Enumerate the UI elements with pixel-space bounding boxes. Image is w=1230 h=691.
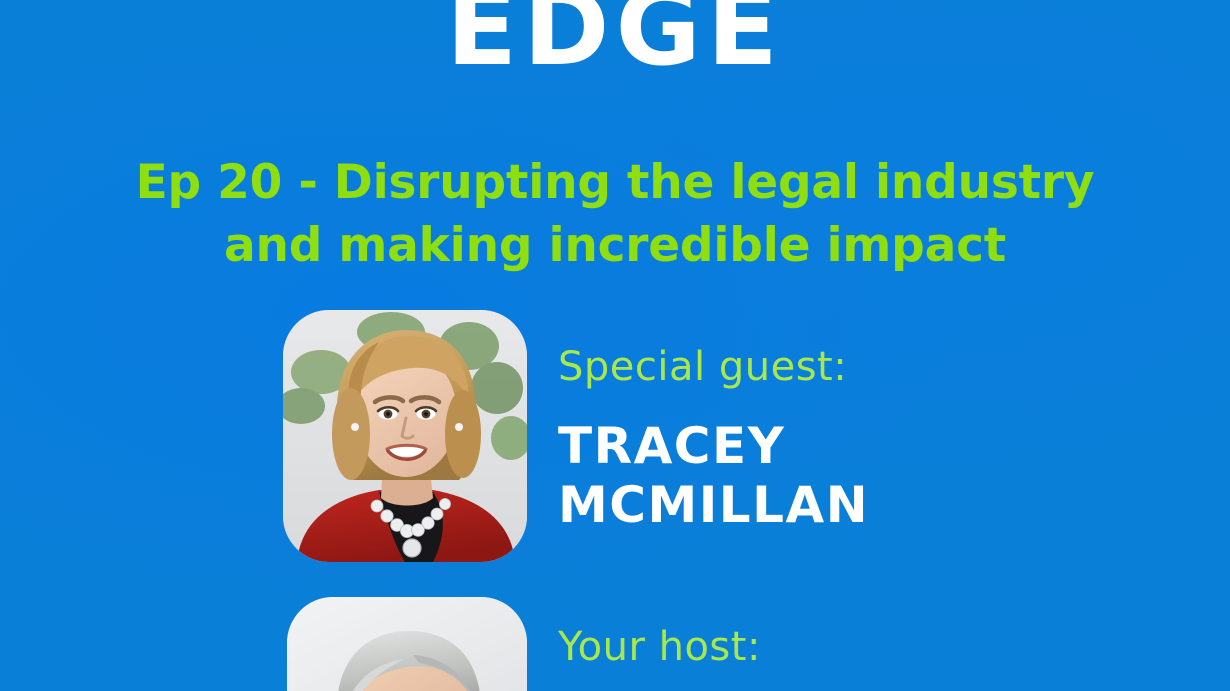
episode-title-line-1: Ep 20 - Disrupting the legal industry xyxy=(136,155,1095,210)
episode-title-line-2: and making incredible impact xyxy=(40,215,1190,278)
guest-name-line-2: MCMILLAN xyxy=(558,476,869,535)
host-portrait-illustration xyxy=(287,597,527,691)
edge-wordmark: EDGE xyxy=(0,0,1230,83)
episode-title: Ep 20 - Disrupting the legal industry an… xyxy=(40,152,1190,277)
podcast-episode-cover: EDGE Ep 20 - Disrupting the legal indust… xyxy=(0,0,1230,691)
special-guest-label: Special guest: xyxy=(558,344,847,390)
guest-portrait-illustration xyxy=(283,310,527,562)
your-host-label: Your host: xyxy=(558,624,761,670)
guest-name: TRACEY MCMILLAN xyxy=(558,417,869,535)
guest-photo xyxy=(283,310,527,562)
guest-name-line-1: TRACEY xyxy=(558,417,869,476)
host-photo xyxy=(287,597,527,691)
